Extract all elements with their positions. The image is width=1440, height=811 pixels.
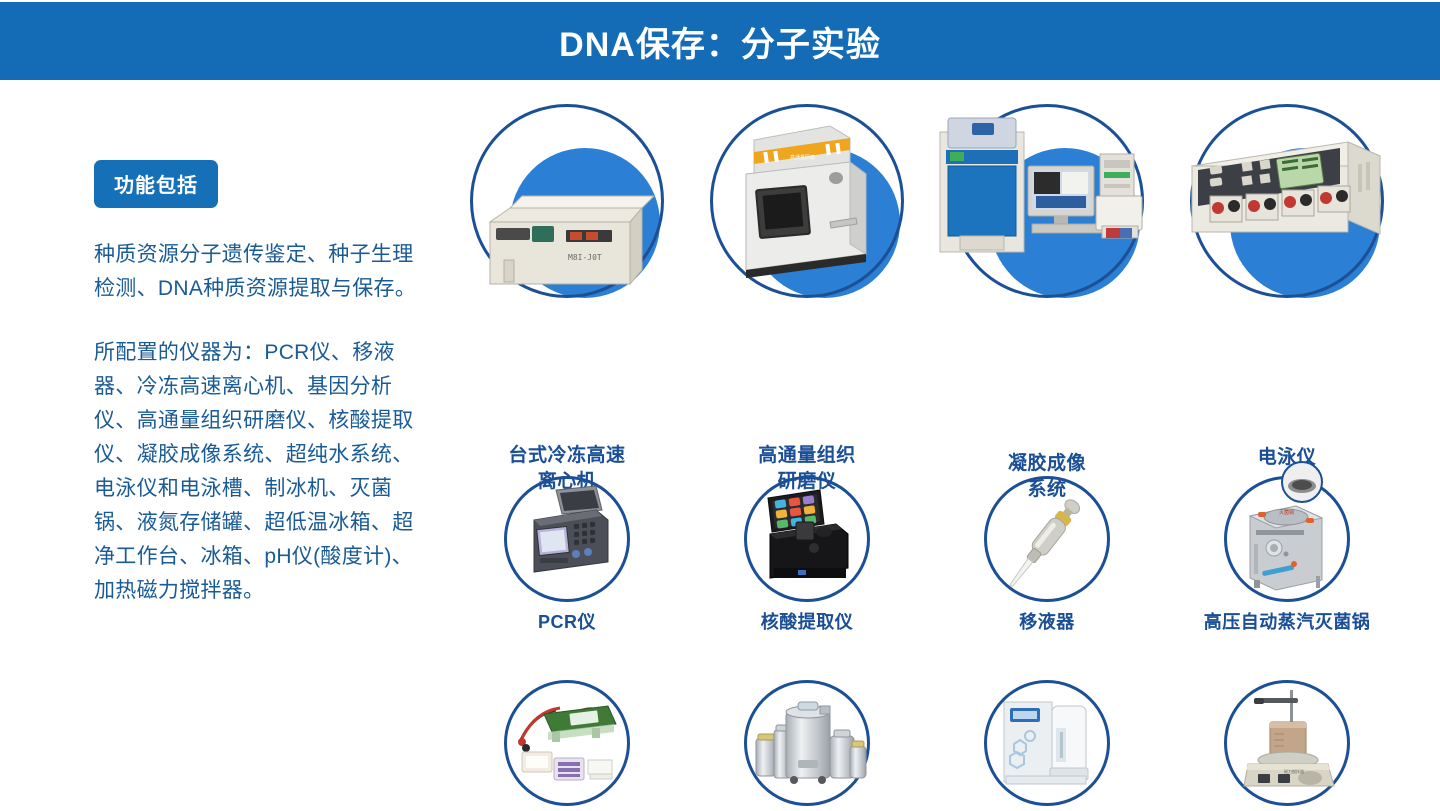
gel-imaging-circle bbox=[950, 104, 1144, 298]
nucleic-extractor-image bbox=[744, 476, 870, 602]
slide-root: DNA保存：分子实验 功能包括 种质资源分子遗传鉴定、种子生理检测、DNA种质资… bbox=[0, 0, 1440, 811]
equipment-row-2: PCR仪 bbox=[447, 476, 1407, 656]
equipment-item-ln2-tank[interactable]: 液氮存储罐 bbox=[687, 680, 927, 811]
header-banner: DNA保存：分子实验 bbox=[0, 2, 1440, 80]
caption-nucleic-extractor: 核酸提取仪 bbox=[761, 611, 854, 634]
features-badge: 功能包括 bbox=[94, 160, 218, 208]
electrophoresis-power-image bbox=[1190, 104, 1384, 298]
equipment-item-electrophoresis-power[interactable] bbox=[1167, 104, 1407, 392]
autoclave-image: 灭菌锅 bbox=[1224, 476, 1350, 602]
pipette-circle bbox=[984, 476, 1110, 602]
magnetic-stirrer-circle: 磁力搅拌器 bbox=[1224, 680, 1350, 806]
ultrapure-water-circle bbox=[984, 680, 1110, 806]
tissue-grinder-image: 高通量研磨 bbox=[710, 104, 904, 298]
equipment-item-tissue-grinder[interactable]: 高通量研磨 bbox=[687, 104, 927, 392]
equipment-item-ultrapure-water[interactable]: 超纯水系统 bbox=[927, 680, 1167, 811]
caption-pipette: 移液器 bbox=[1019, 611, 1075, 634]
electrophoresis-power-circle bbox=[1190, 104, 1384, 298]
centrifuge-circle: M8I-J0T bbox=[470, 104, 664, 298]
equipment-item-electrophoresis-tank[interactable]: 电泳槽 bbox=[447, 680, 687, 811]
equipment-grid: M8I-J0T bbox=[447, 104, 1407, 811]
equipment-item-centrifuge[interactable]: M8I-J0T bbox=[447, 104, 687, 392]
caption-tissue-grinder-line1: 高通量组织 bbox=[687, 444, 927, 468]
centrifuge-image: M8I-J0T bbox=[470, 104, 664, 298]
equipment-row-3: 电泳槽 bbox=[447, 680, 1407, 811]
description-paragraph-2: 所配置的仪器为：PCR仪、移液器、冷冻高速离心机、基因分析仪、高通量组织研磨仪、… bbox=[94, 336, 434, 608]
svg-text:磁力搅拌器: 磁力搅拌器 bbox=[1284, 768, 1304, 774]
electrophoresis-tank-circle bbox=[504, 680, 630, 806]
equipment-item-pipette[interactable]: 移液器 bbox=[927, 476, 1167, 656]
caption-electrophoresis-power: 电泳仪 bbox=[1167, 446, 1407, 470]
equipment-item-magnetic-stirrer[interactable]: 磁力搅拌器 加热磁力搅拌器 bbox=[1167, 680, 1407, 811]
equipment-item-gel-imaging[interactable] bbox=[927, 104, 1167, 392]
caption-gel-imaging-line1: 凝胶成像 bbox=[927, 452, 1167, 476]
tissue-grinder-circle: 高通量研磨 bbox=[710, 104, 904, 298]
ultrapure-water-image bbox=[984, 680, 1110, 806]
equipment-item-pcr[interactable]: PCR仪 bbox=[447, 476, 687, 656]
left-text-panel: 功能包括 种质资源分子遗传鉴定、种子生理检测、DNA种质资源提取与保存。 所配置… bbox=[94, 160, 434, 608]
pipette-image bbox=[984, 476, 1110, 602]
pcr-circle bbox=[504, 476, 630, 602]
svg-text:高通量研磨: 高通量研磨 bbox=[790, 154, 815, 161]
svg-text:M8I-J0T: M8I-J0T bbox=[568, 253, 602, 262]
equipment-row-1: M8I-J0T bbox=[447, 104, 1407, 392]
autoclave-circle: 灭菌锅 bbox=[1224, 476, 1350, 602]
ln2-tank-image bbox=[744, 680, 870, 806]
page-title: DNA保存：分子实验 bbox=[559, 17, 881, 66]
equipment-item-autoclave[interactable]: 灭菌锅 bbox=[1167, 476, 1407, 656]
caption-pcr: PCR仪 bbox=[538, 611, 596, 634]
electrophoresis-tank-image bbox=[504, 680, 630, 806]
nucleic-extractor-circle bbox=[744, 476, 870, 602]
svg-text:灭菌锅: 灭菌锅 bbox=[1279, 509, 1294, 516]
gel-imaging-image bbox=[950, 104, 1144, 298]
pcr-image bbox=[504, 476, 630, 602]
equipment-item-nucleic-extractor[interactable]: 核酸提取仪 bbox=[687, 476, 927, 656]
magnetic-stirrer-image: 磁力搅拌器 bbox=[1224, 680, 1350, 806]
caption-autoclave: 高压自动蒸汽灭菌锅 bbox=[1204, 611, 1371, 634]
caption-centrifuge-line1: 台式冷冻高速 bbox=[447, 444, 687, 468]
ln2-tank-circle bbox=[744, 680, 870, 806]
description-paragraph-1: 种质资源分子遗传鉴定、种子生理检测、DNA种质资源提取与保存。 bbox=[94, 238, 434, 306]
